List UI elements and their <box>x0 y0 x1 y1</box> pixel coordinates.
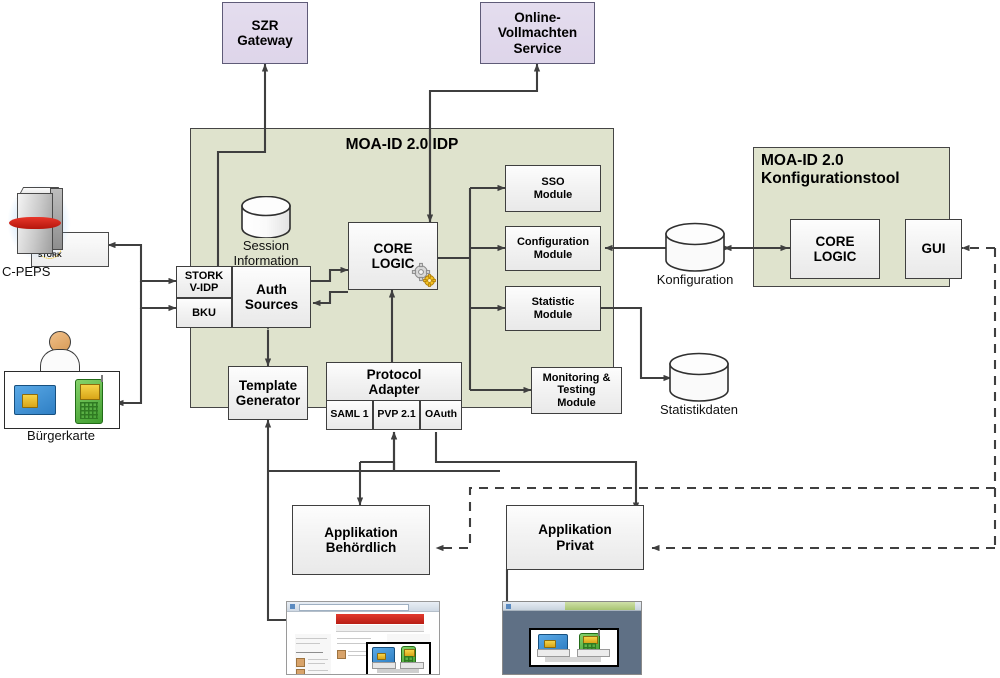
smartcard-icon <box>14 385 56 415</box>
konfiguration-cylinder-icon <box>664 222 726 272</box>
monitoring-module-line1: Monitoring & <box>543 372 611 384</box>
monitoring-module-line2: Testing <box>557 384 595 396</box>
konfiguration-caption: Konfiguration <box>640 273 750 288</box>
cpeps-server-icon <box>6 182 72 262</box>
protocol-pvp21[interactable]: PVP 2.1 <box>373 400 420 430</box>
session-information-caption: Session Information <box>205 239 327 269</box>
stork-vidp-box[interactable]: STORK V-IDP <box>176 266 232 298</box>
mobile-phone-icon <box>75 379 103 424</box>
bku-box[interactable]: BKU <box>176 298 232 328</box>
statistikdaten-cylinder-icon <box>668 352 730 402</box>
protocol-adapter-line1: Protocol <box>367 367 422 382</box>
sso-module-box[interactable]: SSO Module <box>505 165 601 212</box>
statistic-module-line2: Module <box>534 309 573 321</box>
monitoring-module-line3: Module <box>557 397 596 409</box>
phone-antenna <box>101 375 103 382</box>
avatar <box>296 658 305 667</box>
template-generator-box[interactable]: Template Generator <box>228 366 308 420</box>
server-red-band <box>9 217 62 229</box>
site-red-header <box>336 614 424 624</box>
text-line <box>296 638 326 639</box>
bku-dialog-checkbox-row <box>545 657 601 662</box>
text-line <box>308 659 328 660</box>
konfig-core-logic-line2: LOGIC <box>814 249 857 264</box>
protocol-adapter-line2: Adapter <box>368 382 419 397</box>
site-nav-strip <box>336 625 424 632</box>
phone-keypad <box>80 402 98 419</box>
app-privat-line1: Applikation <box>538 522 612 537</box>
text-line <box>296 652 323 653</box>
core-logic-idp-line2: LOGIC <box>372 256 415 271</box>
app-privat-line2: Privat <box>556 538 594 553</box>
popup-card-chip <box>377 653 386 661</box>
bku-favicon <box>506 604 511 609</box>
gui-label: GUI <box>921 241 945 256</box>
auth-sources-line1: Auth <box>256 282 287 297</box>
template-generator-line2: Generator <box>236 393 301 408</box>
text-line <box>308 663 325 664</box>
diagram-canvas: MOA-ID 2.0 IDP MOA-ID 2.0 Konfigurations… <box>0 0 1000 678</box>
protocol-saml1[interactable]: SAML 1 <box>326 400 373 430</box>
smartcard-chip <box>22 394 38 407</box>
text-line <box>308 670 328 671</box>
applikation-privat-box[interactable]: Applikation Privat <box>506 505 644 570</box>
panel-moaid-idp-title: MOA-ID 2.0 IDP <box>190 136 614 154</box>
browser-favicon <box>290 604 295 609</box>
applikation-behoerdlich-box[interactable]: Applikation Behördlich <box>292 505 430 575</box>
sso-module-line1: SSO <box>541 176 564 188</box>
bku-dialog-button-card <box>537 649 570 657</box>
auth-sources-box[interactable]: Auth Sources <box>232 266 311 328</box>
text-line <box>337 638 370 639</box>
statistic-module-line1: Statistic <box>532 296 575 308</box>
browser-page-body <box>287 612 439 675</box>
protocol-pvp21-label: PVP 2.1 <box>377 409 415 421</box>
konfig-title-line2: Konfigurationstool <box>761 170 951 188</box>
bku-label: BKU <box>192 307 216 319</box>
gui-box[interactable]: GUI <box>905 219 962 279</box>
external-service-szr-gateway[interactable]: SZR Gateway <box>222 2 308 64</box>
browser-screenshot-thumbnail <box>286 601 440 675</box>
cpeps-label: C-PEPS <box>2 265 82 280</box>
bku-dialog-card-chip <box>544 640 556 648</box>
browser-chrome <box>287 602 439 612</box>
template-generator-line1: Template <box>239 378 297 393</box>
protocol-oauth[interactable]: OAuth <box>420 400 462 430</box>
buergerkarte-label: Bürgerkarte <box>4 429 118 444</box>
monitoring-testing-module-box[interactable]: Monitoring & Testing Module <box>531 367 622 414</box>
external-service-online-vollmachten[interactable]: Online- Vollmachten Service <box>480 2 595 64</box>
stork-vidp-line2: V-IDP <box>190 282 219 294</box>
statistic-module-box[interactable]: Statistic Module <box>505 286 601 331</box>
bku-selection-popup <box>366 642 431 675</box>
szr-gateway-label-line1: SZR <box>252 18 279 33</box>
core-logic-konfigurationstool[interactable]: CORE LOGIC <box>790 219 880 279</box>
text-line <box>296 643 320 644</box>
text-line <box>337 643 366 644</box>
sso-module-line2: Module <box>534 189 573 201</box>
avatar <box>296 669 305 675</box>
bku-dialog <box>529 628 619 667</box>
session-info-line1: Session <box>205 239 327 254</box>
protocol-saml1-label: SAML 1 <box>330 409 368 421</box>
protocol-adapter-box[interactable]: Protocol Adapter <box>326 362 462 402</box>
session-information-cylinder-icon <box>240 196 292 238</box>
bku-browser-chrome <box>503 602 641 611</box>
configuration-module-line2: Module <box>534 249 573 261</box>
app-behoerdlich-line2: Behördlich <box>326 540 397 555</box>
bku-green-strip <box>565 602 635 610</box>
protocol-oauth-label: OAuth <box>425 409 457 421</box>
configuration-module-line1: Configuration <box>517 236 589 248</box>
browser-url-bar <box>299 604 409 611</box>
statistikdaten-caption: Statistikdaten <box>641 403 757 418</box>
phone-screen <box>80 384 101 401</box>
bku-dialog-button-mobile <box>577 649 610 657</box>
vollmachten-label-line3: Service <box>513 41 561 56</box>
stork-vidp-line1: STORK <box>185 270 223 282</box>
gear-icon <box>411 262 437 288</box>
konfig-title-line1: MOA-ID 2.0 <box>761 152 951 170</box>
core-logic-idp-line1: CORE <box>373 241 412 256</box>
popup-button-mobile <box>400 662 424 669</box>
configuration-module-box[interactable]: Configuration Module <box>505 226 601 271</box>
vollmachten-label-line2: Vollmachten <box>498 25 577 40</box>
vollmachten-label-line1: Online- <box>514 10 561 25</box>
avatar <box>337 650 346 659</box>
bku-page-body <box>503 611 641 675</box>
popup-checkbox-row <box>377 669 420 673</box>
app-behoerdlich-line1: Applikation <box>324 525 398 540</box>
bku-selection-screenshot-thumbnail <box>502 601 642 675</box>
szr-gateway-label-line2: Gateway <box>237 33 293 48</box>
popup-button-card <box>372 662 396 669</box>
panel-konfigurationstool-title: MOA-ID 2.0 Konfigurationstool <box>761 152 951 189</box>
auth-sources-line2: Sources <box>245 297 298 312</box>
konfig-core-logic-line1: CORE <box>815 234 854 249</box>
